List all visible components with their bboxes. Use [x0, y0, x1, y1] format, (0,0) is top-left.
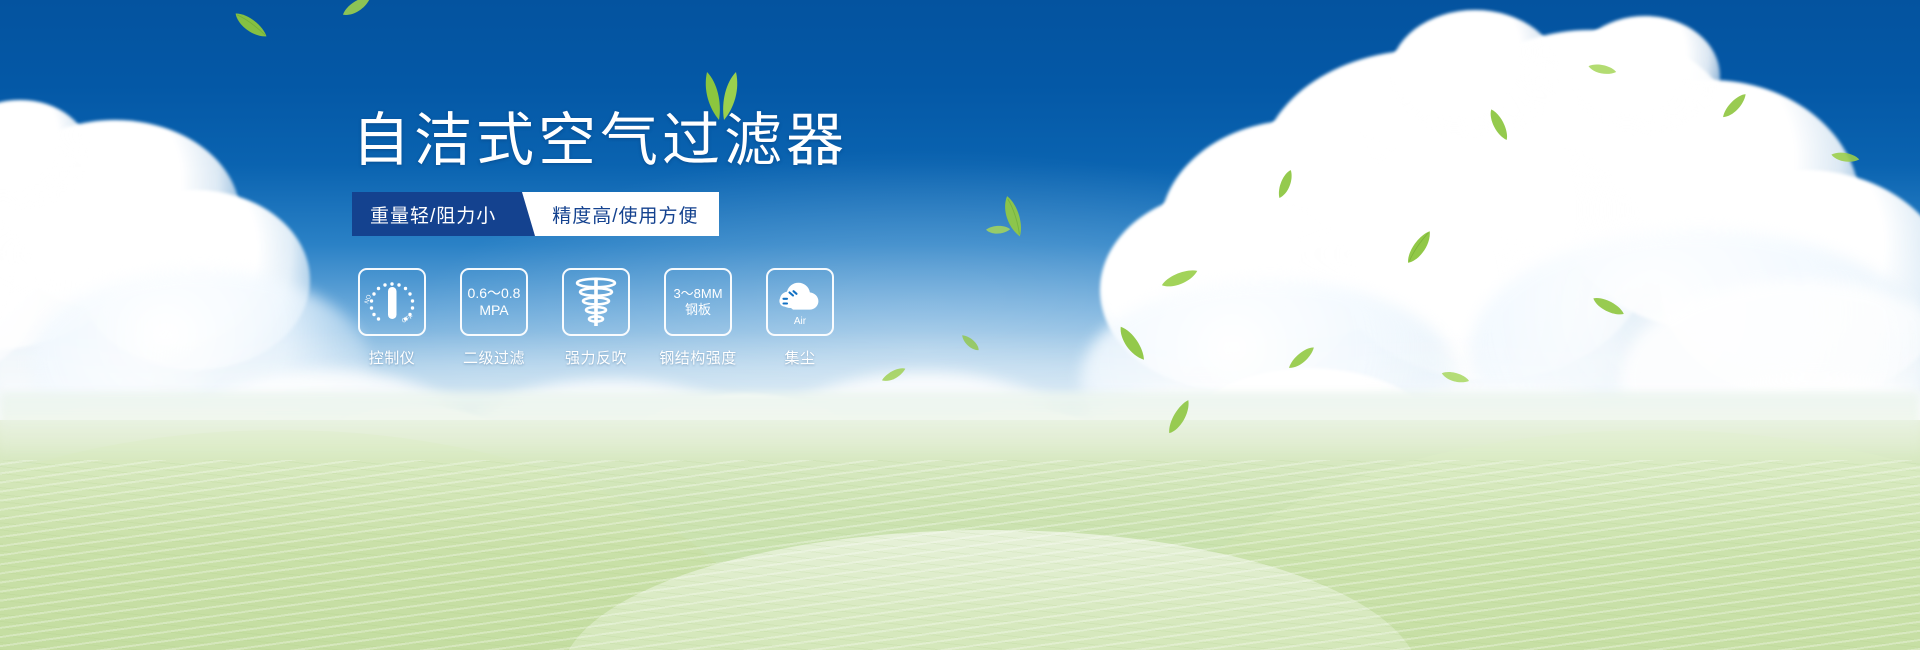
feature-icon-box: 0.6～0.8 MPA: [460, 268, 528, 336]
feature-steel-plate: 3～8MM 钢板 钢结构强度: [661, 268, 735, 368]
feature-caption: 钢结构强度: [659, 347, 737, 368]
air-cloud-icon: Air: [771, 274, 829, 330]
steel-plate-value-icon: 3～8MM 钢板: [673, 286, 722, 318]
steel-value-bottom: 钢板: [673, 302, 722, 318]
gauge-dial-icon: NO OFF: [363, 273, 421, 331]
pressure-value-icon: 0.6～0.8 MPA: [468, 285, 521, 319]
badge-precision-convenience: 精度高/使用方便: [522, 192, 718, 236]
feature-dust-collection: Air 集尘: [763, 268, 837, 368]
feature-caption: 集尘: [784, 347, 815, 368]
banner-content: 自洁式空气过滤器 重量轻/阻力小 精度高/使用方便: [0, 0, 1920, 650]
feature-controller: NO OFF 控制仪: [355, 268, 429, 368]
tagline-badges: 重量轻/阻力小 精度高/使用方便: [352, 192, 719, 236]
svg-text:OFF: OFF: [401, 314, 415, 325]
feature-icon-box: [562, 268, 630, 336]
sprout-leaves-icon: [690, 70, 752, 127]
page-title: 自洁式空气过滤器: [352, 112, 848, 170]
steel-value-top: 3～8MM: [673, 286, 722, 302]
badge-weight-resistance: 重量轻/阻力小: [352, 192, 522, 236]
svg-text:NO: NO: [364, 294, 373, 305]
feature-icon-box: 3～8MM 钢板: [664, 268, 732, 336]
feature-caption: 二级过滤: [463, 347, 525, 368]
reverse-blow-coil-icon: [570, 275, 622, 329]
feature-icon-box: NO OFF: [358, 268, 426, 336]
air-label: Air: [794, 316, 807, 327]
feature-reverse-blow: 强力反吹: [559, 268, 633, 368]
feature-caption: 控制仪: [369, 347, 416, 368]
feature-icon-row: NO OFF 控制仪 0.6～0.8 MPA 二级过滤: [355, 268, 837, 368]
feature-caption: 强力反吹: [565, 347, 627, 368]
pressure-value-top: 0.6～0.8: [468, 285, 521, 302]
feature-icon-box: Air: [766, 268, 834, 336]
pressure-value-bottom: MPA: [468, 302, 521, 319]
title-block: 自洁式空气过滤器: [352, 112, 848, 170]
feature-pressure: 0.6～0.8 MPA 二级过滤: [457, 268, 531, 368]
product-banner: 自洁式空气过滤器 重量轻/阻力小 精度高/使用方便: [0, 0, 1920, 650]
